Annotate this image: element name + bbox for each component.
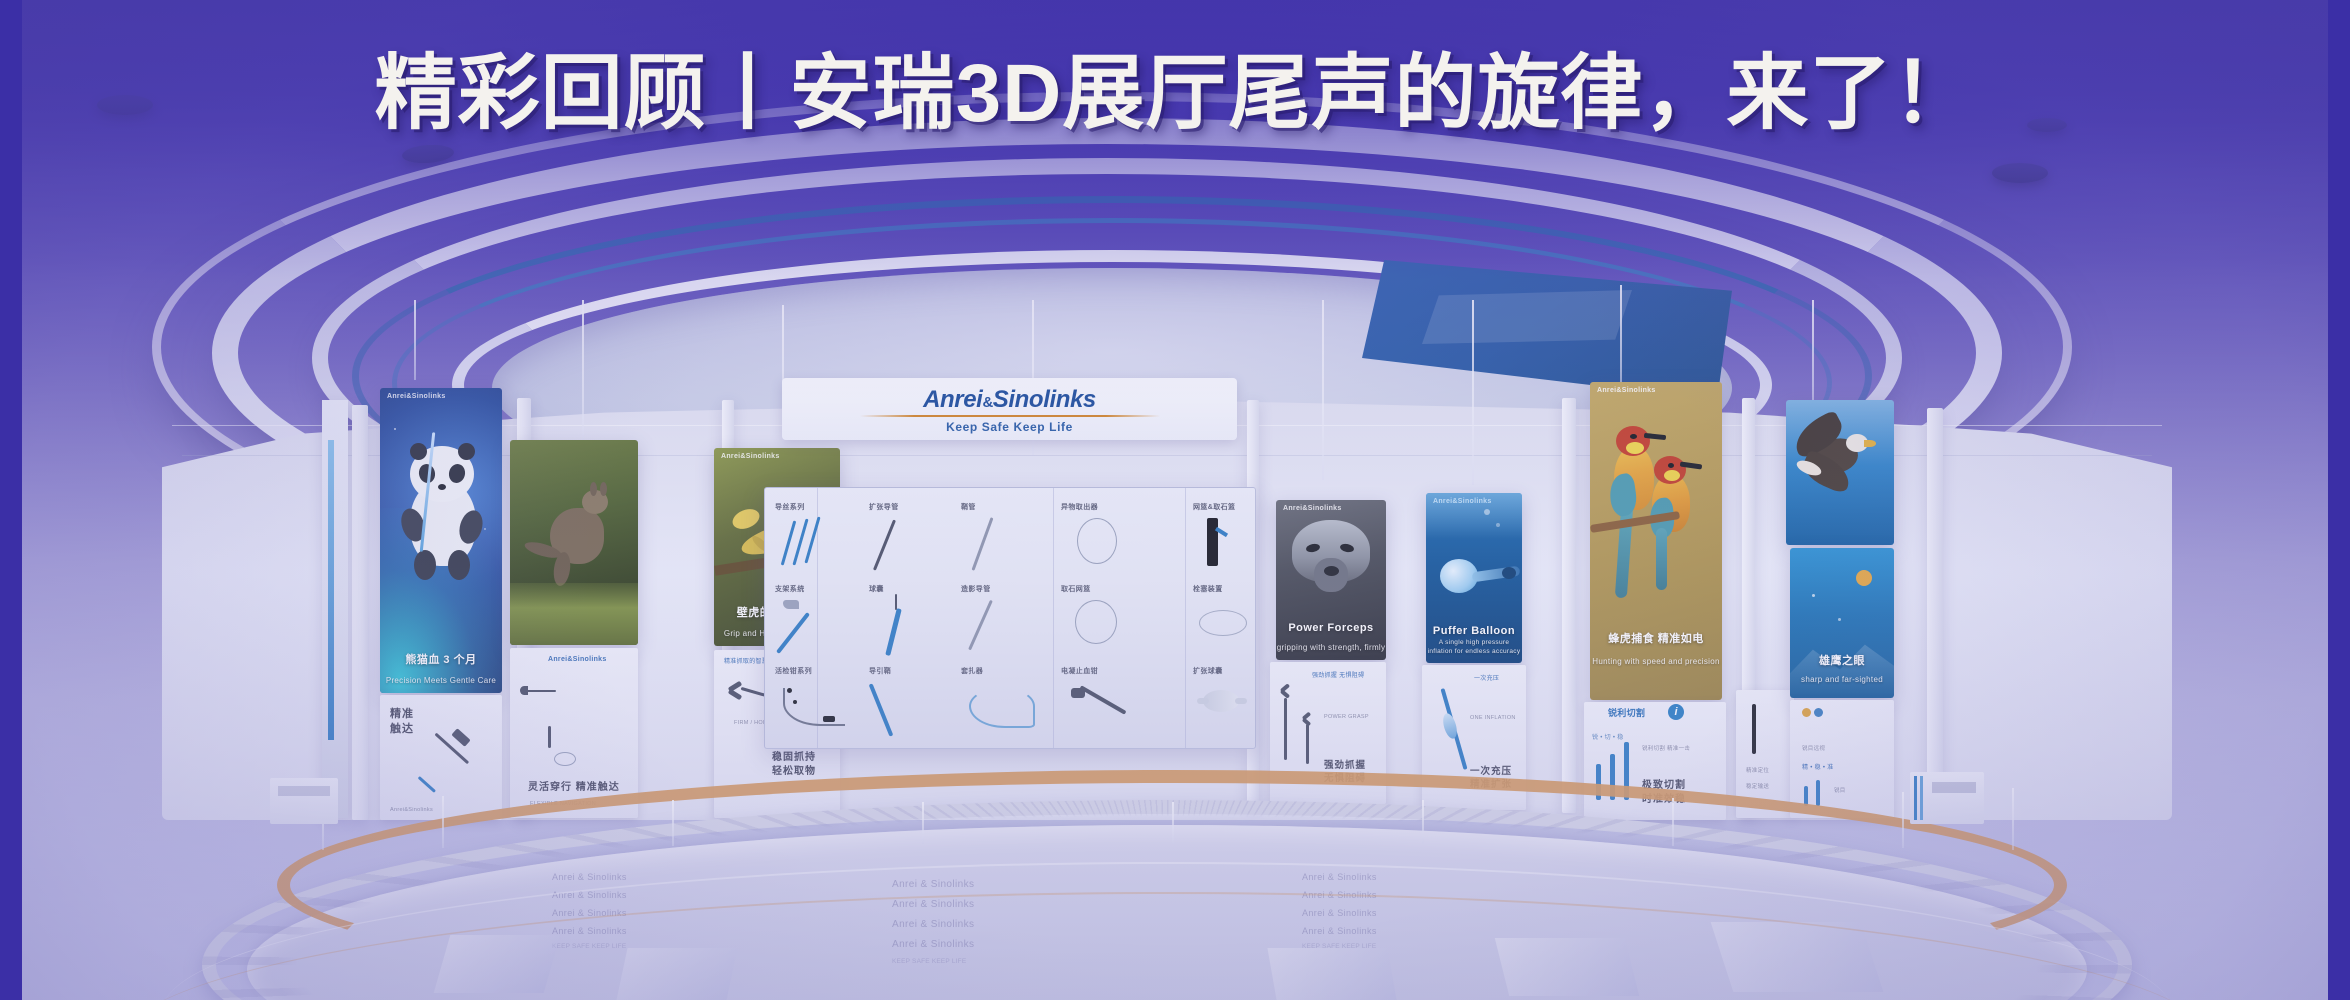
product-label: 异物取出器 — [1061, 502, 1098, 512]
ceiling-lamp-icon — [1992, 163, 2048, 183]
kang-board[interactable]: Anrei&Sinolinks 灵活穿行 精准触达 FLEXIBLE NAVIG… — [510, 648, 638, 818]
brand-tagline: Keep Safe Keep Life — [782, 420, 1237, 434]
device-retrieval-basket — [1077, 518, 1117, 564]
product-label: 扩张导管 — [869, 502, 899, 512]
brand-name-part-2: Sinolinks — [993, 386, 1096, 413]
product-cell[interactable]: 扩张球囊 — [1193, 666, 1251, 738]
poster-eagle-lower[interactable]: 雄鹰之眼 sharp and far-sighted — [1790, 548, 1894, 698]
board-cn-text: 稳固抓持 轻松取物 — [772, 751, 816, 778]
gecko-head — [730, 505, 763, 532]
brand-logo-band: Anrei&Sinolinks Keep Safe Keep Life — [782, 378, 1237, 440]
grass-foreground — [510, 583, 638, 645]
board-cn-text: 精准 触达 — [390, 707, 414, 737]
device-stent-shaft — [776, 612, 810, 654]
ceiling-blue-panel-highlight — [1422, 290, 1632, 344]
device-introducer-sheath — [869, 683, 894, 736]
panda-ear — [410, 443, 427, 460]
poster-hanger-wire — [414, 300, 416, 380]
board-cn-text: 灵活穿行 精准触达 — [528, 781, 620, 795]
poster-brand: Anrei&Sinolinks — [721, 453, 780, 460]
poster-subtitle: A single high pressure inflation for end… — [1426, 638, 1522, 658]
star-dot — [394, 428, 396, 430]
poster-hanger-wire — [1472, 300, 1474, 485]
balloon-tip — [1502, 567, 1516, 579]
product-label: 球囊 — [869, 584, 884, 594]
poster-title: 雄鹰之眼 — [1790, 652, 1894, 668]
board-en-text: 锐利切割 精准一击 — [1642, 744, 1690, 752]
product-label: 鞘管 — [961, 502, 976, 512]
device-angiocatheter — [968, 600, 992, 650]
instrument-shaft — [548, 726, 551, 748]
product-cell[interactable]: 球囊 — [869, 584, 949, 654]
panda-leg — [448, 550, 470, 580]
board-en-text: 锐 • 切 • 稳 — [1592, 732, 1624, 741]
kangaroo-ear — [600, 482, 607, 496]
poster-subtitle: Precision Meets Gentle Care — [380, 676, 502, 685]
bird-tail — [1656, 528, 1667, 590]
device-sheath — [972, 517, 994, 571]
device-balloon-neck — [1235, 698, 1247, 704]
railing-post — [672, 800, 674, 846]
device-node — [793, 700, 797, 704]
board-en-text: 锐目 — [1834, 786, 1846, 794]
wall-pillar — [1927, 408, 1943, 808]
device-biopsy-forceps — [783, 688, 845, 726]
poster-edge-left — [322, 400, 348, 818]
device-ligator-loop — [969, 688, 1035, 728]
logo-dot — [1814, 708, 1823, 717]
brand-name-part-1: Anrei — [923, 386, 982, 413]
device-balloon-neck — [1197, 698, 1209, 704]
bird-throat — [1626, 442, 1644, 454]
panda-nose — [438, 484, 446, 490]
product-display-wall[interactable]: 导丝系列 扩张导管 鞘管 异物取出器 网篮&取石篮 — [764, 487, 1256, 749]
poster-kangaroo[interactable] — [510, 440, 638, 645]
product-cell[interactable]: 异物取出器 — [1061, 502, 1143, 572]
poster-hanger-wire — [582, 300, 584, 445]
device-embolization-coil — [1199, 610, 1247, 636]
poster-eagle[interactable] — [1786, 400, 1894, 545]
poster-title: 蜂虎捕食 精准如电 — [1590, 630, 1722, 646]
product-cell[interactable]: 套扎器 — [961, 666, 1047, 738]
floor-watermark-line: Anrei & Sinolinks — [552, 872, 627, 882]
device-stone-basket — [1075, 600, 1117, 644]
bar-chart-bar — [1816, 780, 1820, 806]
poster-puffer-balloon[interactable]: Anrei&Sinolinks Puffer Balloon A single … — [1426, 493, 1522, 663]
page-title: 精彩回顾丨安瑞3D展厅尾声的旋律，来了！ — [0, 26, 2350, 145]
info-i-icon: i — [1668, 704, 1684, 720]
device-jaw — [823, 716, 835, 722]
poster-hanger-wire — [1812, 300, 1814, 410]
product-cell[interactable]: 栓塞装置 — [1193, 584, 1251, 654]
board-en-text: POWER GRASP — [1324, 714, 1369, 720]
poster-hanger-wire — [1322, 300, 1324, 480]
brand-name: Anrei&Sinolinks — [782, 386, 1237, 414]
board-en-text: ONE INFLATION — [1470, 715, 1516, 721]
wall-pillar — [1562, 398, 1576, 813]
railing-post — [1422, 800, 1424, 844]
board-en-text: 精准定位 — [1746, 766, 1769, 774]
product-label: 造影导管 — [961, 584, 991, 594]
poster-brand: Anrei&Sinolinks — [387, 393, 446, 400]
instrument-shaft — [1752, 704, 1756, 754]
3d-exhibition-scene: Anrei&Sinolinks 熊猫血 3 个月 Precision Meets — [22, 0, 2328, 1000]
pedestal-label — [1932, 782, 1976, 793]
left-edge-bar — [0, 0, 22, 1000]
pedestal — [270, 778, 338, 824]
poster-power-forceps[interactable]: Anrei&Sinolinks Power Forceps gripping w… — [1276, 500, 1386, 660]
railing-post — [1172, 802, 1174, 844]
instrument-shaft — [1284, 698, 1287, 760]
logo-underline — [860, 415, 1160, 417]
instrument-loop — [554, 752, 576, 766]
bubble-icon — [1496, 523, 1500, 527]
product-label: 网篮&取石篮 — [1193, 502, 1235, 512]
board-en-text: Anrei&Sinolinks — [548, 656, 607, 663]
device-clip — [1207, 518, 1218, 566]
bubble-icon — [1484, 509, 1490, 515]
product-label: 活检钳系列 — [775, 666, 812, 676]
railing-post — [442, 796, 444, 848]
brand-ampersand: & — [982, 395, 992, 411]
railing-post — [922, 802, 924, 844]
poster-bee-eaters[interactable]: Anrei&Sinolinks 蜂虎捕食 精准如电 Hunting with s… — [1590, 382, 1722, 700]
badger-nose — [1324, 566, 1339, 576]
kangaroo-ear — [590, 482, 597, 496]
panda-leg — [414, 550, 436, 580]
eagle-beak — [1864, 440, 1876, 447]
snow-dot — [1812, 594, 1815, 597]
product-cell[interactable]: 网篮&取石篮 — [1193, 502, 1251, 572]
poster-title: Puffer Balloon — [1426, 625, 1522, 637]
instrument-shaft — [524, 690, 556, 692]
product-cell[interactable]: 鞘管 — [961, 502, 1041, 572]
board-brand-mark: 锐利切割 — [1608, 706, 1645, 719]
product-cell[interactable]: 扩张导管 — [869, 502, 949, 572]
product-label: 套扎器 — [961, 666, 983, 676]
bird-eye — [1630, 434, 1637, 439]
railing-post — [2012, 788, 2014, 850]
panda-board[interactable]: 精准 触达 Anrei&Sinolinks — [380, 695, 502, 820]
board-en-text: 精 • 稳 • 准 — [1802, 762, 1834, 771]
wall-grid-line — [1185, 488, 1186, 748]
board-en-text: 一次充压 — [1474, 673, 1499, 682]
product-cell[interactable]: 导丝系列 — [775, 502, 860, 572]
poster-title: 熊猫血 3 个月 — [380, 651, 502, 667]
board-en-text: 稳定输送 — [1746, 782, 1769, 790]
poster-subtitle: gripping with strength, firmly — [1276, 643, 1386, 652]
device-dilator — [873, 519, 896, 570]
device-balloon-shaft — [885, 608, 901, 656]
sun-icon — [1856, 570, 1872, 586]
logo-dot — [1802, 708, 1811, 717]
pedestal-stripe — [1920, 776, 1923, 820]
product-label: 栓塞装置 — [1193, 584, 1223, 594]
eagle-board[interactable]: 锐目远视 精 • 稳 • 准 锐目 — [1790, 700, 1894, 818]
board-en-text: 锐目远视 — [1802, 744, 1825, 752]
poster-subtitle: sharp and far-sighted — [1790, 675, 1894, 684]
ceiling-lamp-icon — [401, 143, 454, 165]
device-node — [787, 688, 792, 693]
product-cell[interactable]: 导引鞘 — [869, 666, 949, 738]
product-cell[interactable]: 电凝止血钳 — [1061, 666, 1151, 738]
product-label: 取石网篮 — [1061, 584, 1091, 594]
railing-post — [1902, 792, 1904, 848]
railing-post — [1672, 798, 1674, 846]
product-label: 扩张球囊 — [1193, 666, 1223, 676]
snow-dot — [1838, 618, 1841, 621]
product-label: 电凝止血钳 — [1061, 666, 1098, 676]
board-en-text: Anrei&Sinolinks — [390, 807, 433, 813]
right-edge-bar — [2328, 0, 2350, 1000]
bird-eye — [1668, 463, 1674, 468]
product-label: 支架系统 — [775, 584, 805, 594]
wall-pillar — [352, 405, 368, 820]
poster-brand: Anrei&Sinolinks — [1597, 387, 1656, 394]
product-cell[interactable]: 造影导管 — [961, 584, 1041, 654]
product-cell[interactable]: 取石网篮 — [1061, 584, 1143, 654]
product-cell[interactable]: 支架系统 — [775, 584, 860, 654]
device-stent-head — [783, 600, 799, 609]
product-label: 导丝系列 — [775, 502, 805, 512]
instrument-shaft — [1306, 724, 1309, 764]
product-label: 导引鞘 — [869, 666, 891, 676]
poster-subtitle: Hunting with speed and precision — [1590, 657, 1722, 666]
product-cell[interactable]: 活检钳系列 — [775, 666, 860, 738]
pedestal-stripe — [1914, 776, 1917, 820]
wall-grid-line — [1053, 488, 1054, 748]
poster-title: Power Forceps — [1276, 622, 1386, 634]
board-en-text: 强劲抓握 无惧阻碍 — [1312, 670, 1364, 679]
instrument-tip — [418, 776, 436, 793]
instrument-jaw — [728, 689, 743, 701]
device-coag-forceps-shaft — [1079, 685, 1126, 714]
panda-ear — [458, 443, 475, 460]
exhibition-hall-banner: Anrei&Sinolinks 熊猫血 3 个月 Precision Meets — [0, 0, 2350, 1000]
poster-edge-left-strip — [328, 440, 334, 740]
instrument-tip — [520, 686, 528, 695]
instrument-handle — [451, 728, 470, 747]
pedestal-label — [278, 786, 330, 796]
poster-brand: Anrei&Sinolinks — [1283, 505, 1342, 512]
bird-throat — [1664, 470, 1680, 481]
poster-panda[interactable]: Anrei&Sinolinks 熊猫血 3 个月 Precision Meets — [380, 388, 502, 693]
water-bubbles — [1426, 493, 1522, 539]
